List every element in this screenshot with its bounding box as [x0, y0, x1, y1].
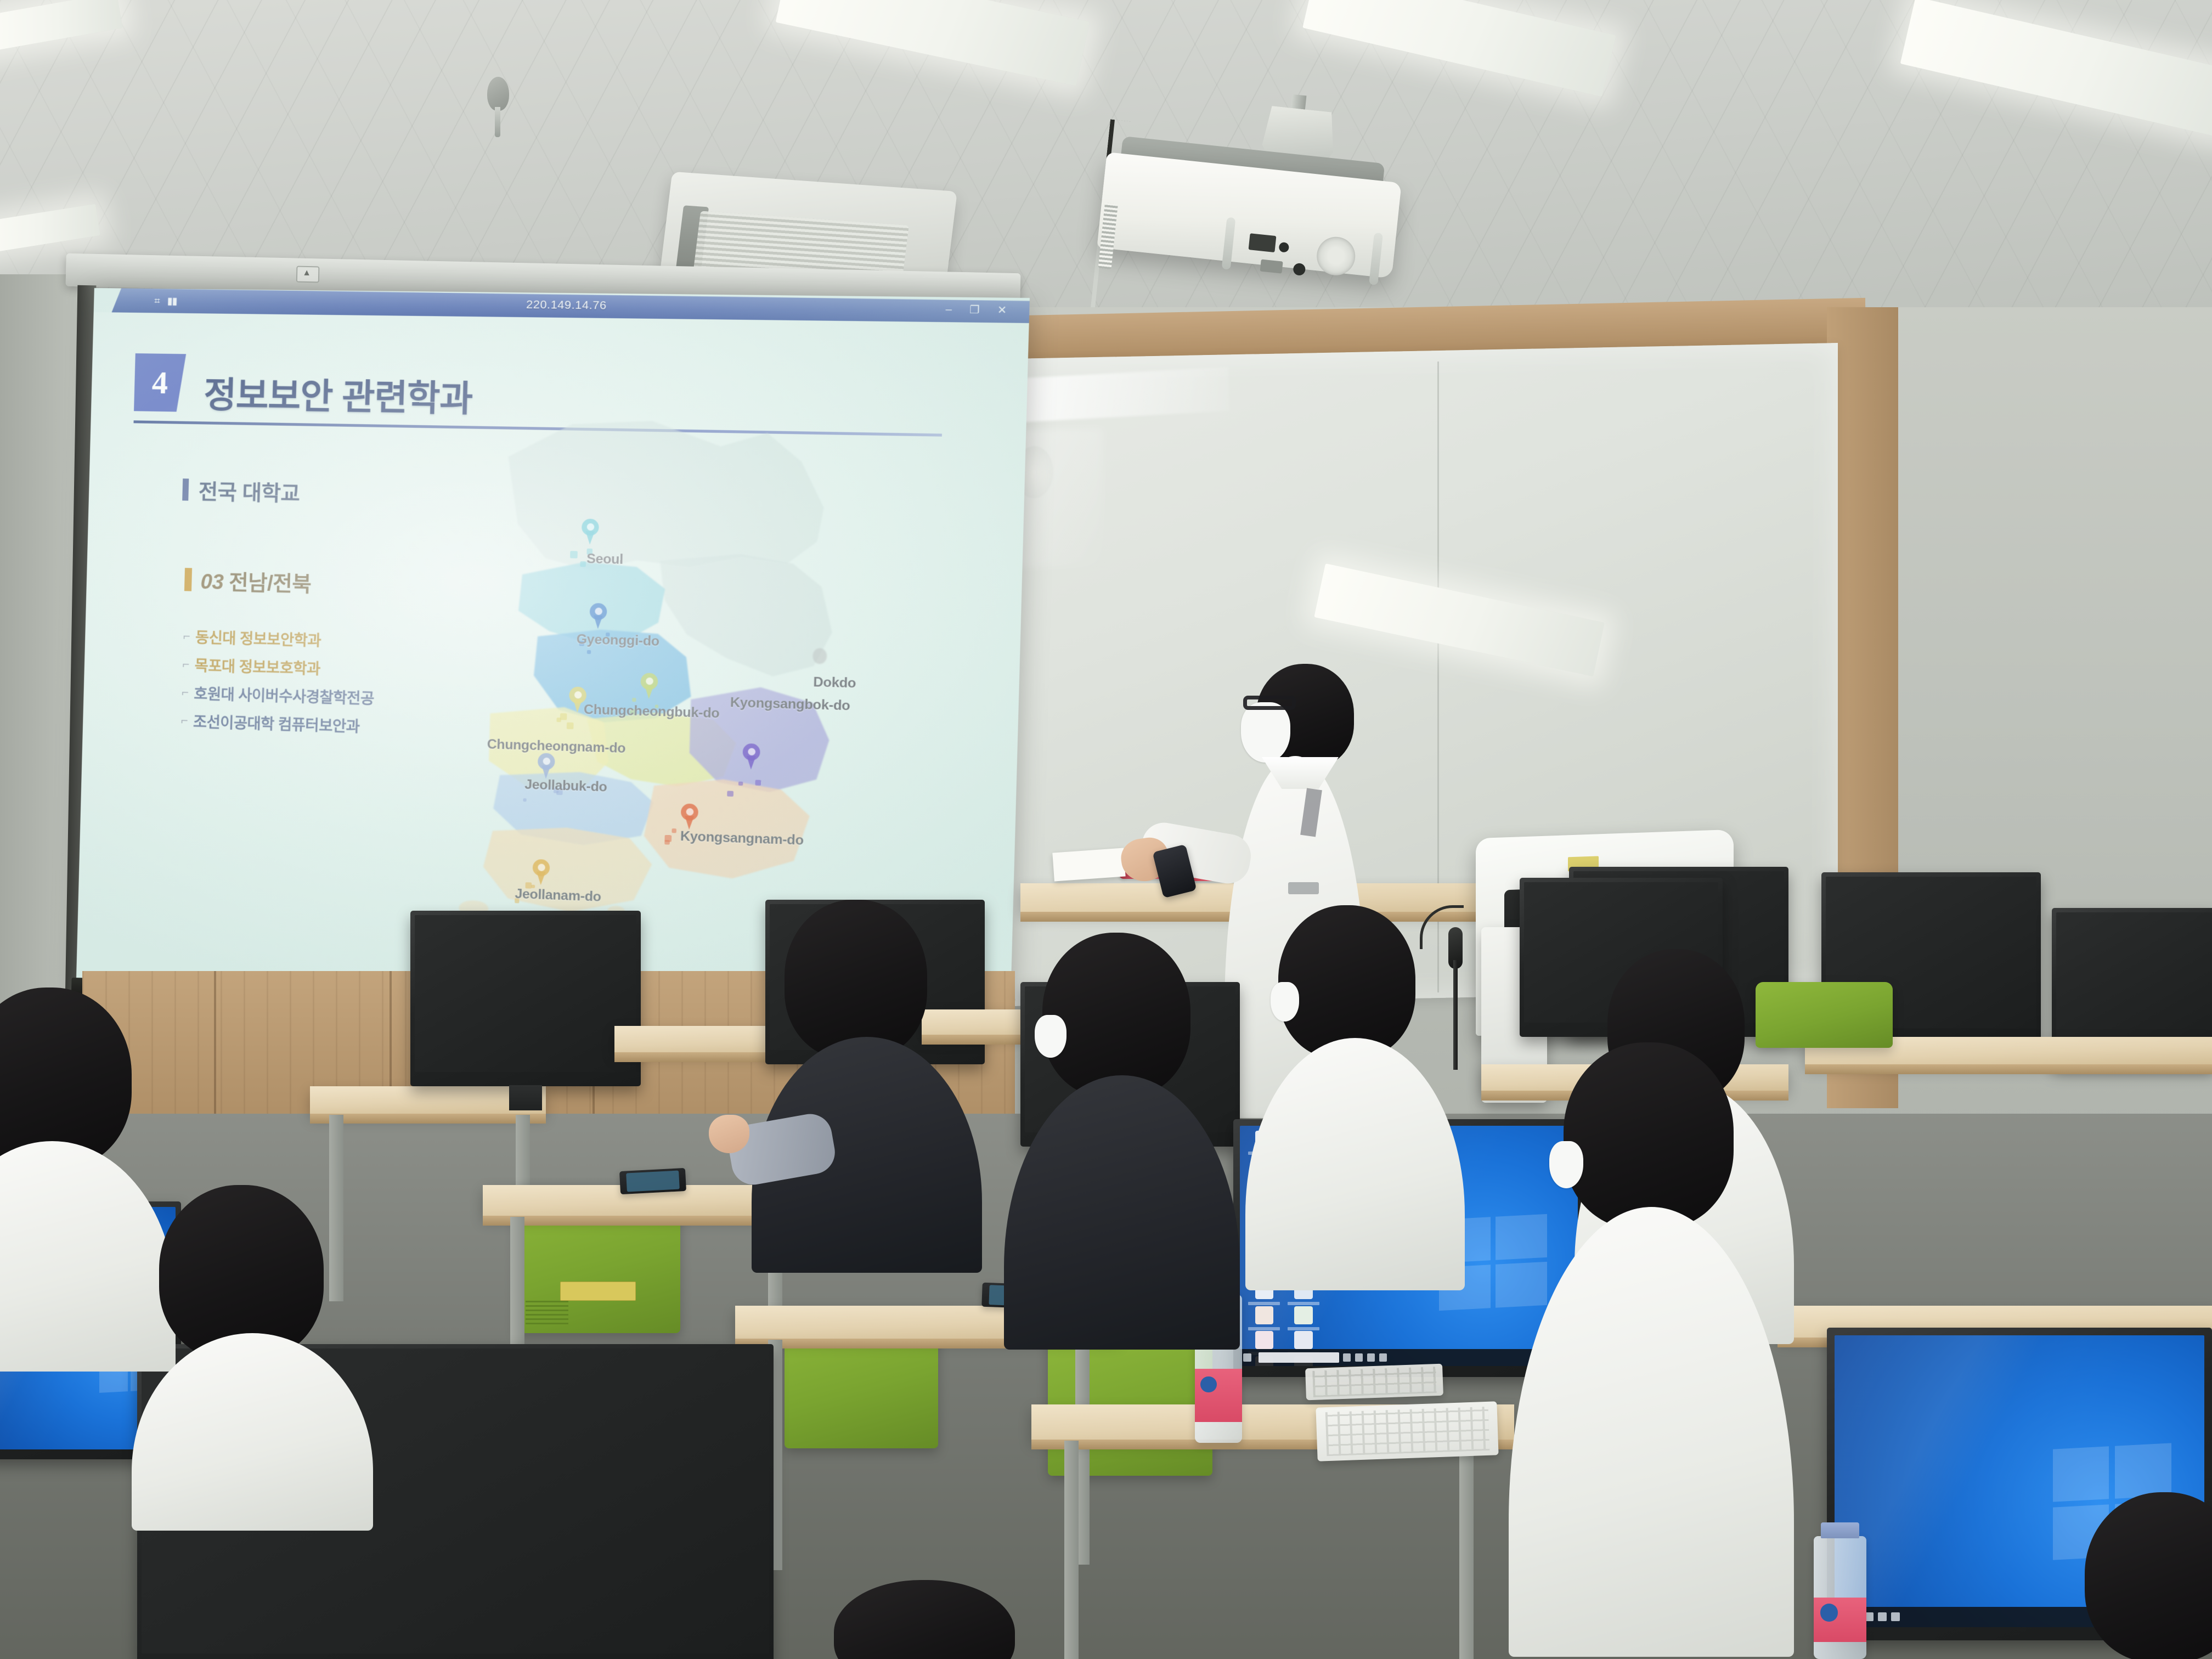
map-secondary-dot [570, 551, 578, 558]
student-head [2085, 1492, 2212, 1659]
student [0, 988, 165, 1372]
student-head [0, 988, 132, 1169]
student-monitor[interactable] [410, 911, 641, 1086]
list-bullet-dash: ⌐ [180, 713, 188, 727]
department-label: 호원대 사이버수사경찰학전공 [194, 682, 374, 709]
taskbar-search-box[interactable] [1259, 1352, 1339, 1363]
student-chair[interactable] [1756, 982, 1893, 1048]
whiteboard-light-reflection [998, 367, 1230, 424]
taskbar-app-icon[interactable] [1878, 1612, 1887, 1621]
department-list-item: ⌐조선이공대학 컴퓨터보안과 [180, 709, 415, 738]
chair-label-sticker [560, 1282, 636, 1301]
slide-header: 4 정보보안 관련학과 [134, 353, 473, 416]
projector-speaker-grille [1315, 235, 1357, 277]
projector-port-hdmi [1260, 259, 1283, 274]
signal-icon: ▮▮ [167, 295, 177, 307]
taskbar-app-icon[interactable] [1891, 1612, 1900, 1621]
slide-subtitle: 전국 대학교 [182, 474, 300, 507]
region-index: 03 [200, 571, 224, 594]
remote-desktop-title: 220.149.14.76 [177, 295, 946, 317]
chair-vent-slots [526, 1301, 568, 1324]
screen-retract-button[interactable] [296, 266, 320, 283]
face-mask [1035, 1015, 1066, 1058]
start-button-icon[interactable] [1243, 1353, 1251, 1362]
desktop-icon[interactable] [1246, 1331, 1282, 1351]
desktop-icon[interactable] [1286, 1306, 1321, 1327]
list-bullet-dash: ⌐ [183, 629, 190, 643]
list-bullet-dash: ⌐ [182, 685, 189, 699]
taskbar-app-icon[interactable] [1379, 1353, 1387, 1362]
student-head [1278, 905, 1415, 1059]
desktop-icon[interactable] [1246, 1306, 1282, 1327]
map-secondary-dot [586, 650, 591, 654]
map-secondary-dot [664, 840, 669, 845]
projector-slot [1369, 233, 1383, 285]
keyboard[interactable] [1316, 1401, 1498, 1461]
taskbar-app-icon[interactable] [1343, 1353, 1351, 1362]
close-button[interactable]: ✕ [997, 303, 1007, 317]
taskbar-app-icon[interactable] [1355, 1353, 1363, 1362]
student-torso [1245, 1038, 1465, 1290]
student-head [1042, 933, 1190, 1097]
map-region-label: Seoul [586, 551, 623, 568]
department-label: 목포대 정보보호학과 [194, 653, 320, 678]
face-mask [1271, 982, 1299, 1022]
taskbar-app-icon[interactable] [1367, 1353, 1375, 1362]
sprinkler-head-icon [483, 77, 513, 137]
subtitle-label: 전국 대학교 [198, 475, 300, 507]
student-head [1564, 1042, 1734, 1229]
map-secondary-dot [727, 791, 733, 797]
student-head [834, 1580, 1015, 1659]
keyboard[interactable] [1305, 1364, 1443, 1401]
student-torso [132, 1333, 373, 1531]
student-hand [709, 1115, 749, 1153]
desk-leg [1459, 1441, 1474, 1659]
region-heading: 03 전남/전북 [200, 565, 312, 597]
subtitle-tick [182, 478, 189, 500]
department-label: 조선이공대학 컴퓨터보안과 [193, 710, 360, 736]
region-department-block: 03 전남/전북 ⌐동신대 정보보안학과⌐목포대 정보보호학과⌐호원대 사이버수… [180, 564, 419, 738]
map-region-label: Kyongsangbok-do [730, 695, 850, 714]
map-location-pin [581, 518, 599, 545]
list-bullet-dash: ⌐ [182, 657, 189, 671]
network-icon: ⌗ [154, 295, 160, 307]
map-location-pin [589, 603, 607, 629]
windows-taskbar[interactable] [1240, 1349, 1578, 1366]
region-name: 전남/전북 [229, 571, 312, 596]
water-bottle[interactable] [1814, 1536, 1866, 1659]
projector-port-audio [1278, 242, 1289, 253]
map-secondary-dot [556, 718, 561, 722]
student [768, 900, 955, 1273]
map-secondary-dot [738, 781, 743, 786]
map-secondary-dot [523, 798, 526, 802]
region-tick [184, 568, 192, 591]
projector-slot [1222, 217, 1236, 270]
smartphone[interactable] [619, 1168, 686, 1194]
department-list: ⌐동신대 정보보안학과⌐목포대 정보보호학과⌐호원대 사이버수사경찰학전공⌐조선… [180, 625, 417, 738]
student-head [785, 900, 927, 1059]
desktop-icon[interactable] [1286, 1331, 1321, 1351]
student [2085, 1492, 2212, 1659]
classroom-photo: ⌗ ▮▮ 220.149.14.76 – ❐ ✕ 4 정보보안 관련학과 전국 … [0, 0, 2212, 1659]
student-torso [0, 1141, 176, 1372]
map-secondary-dot [567, 722, 574, 729]
paper-sheet [1052, 848, 1125, 882]
map-location-pin [532, 859, 550, 885]
desk-leg [1064, 1441, 1079, 1659]
department-list-item: ⌐목포대 정보보호학과 [182, 653, 417, 681]
eyeglasses-icon [1243, 696, 1296, 710]
map-location-pin [742, 743, 760, 770]
department-list-item: ⌐동신대 정보보안학과 [183, 625, 417, 653]
map-secondary-dot [755, 780, 761, 786]
projector-port-vga [1249, 233, 1277, 252]
map-region-label: Dokdo [813, 675, 856, 692]
map-location-pin [537, 753, 555, 779]
department-label: 동신대 정보보안학과 [195, 625, 321, 650]
map-secondary-dot [580, 561, 586, 567]
map-region-label: Gyeonggi-do [576, 632, 659, 650]
microphone-stem [1453, 960, 1458, 1070]
student [1026, 933, 1212, 1350]
maximize-button[interactable]: ❐ [969, 303, 980, 317]
face-mask [1549, 1141, 1583, 1188]
student [1531, 1042, 1761, 1657]
map-region-label: Jeollanam-do [515, 887, 601, 905]
map-region-label: Jeollabuk-do [524, 777, 607, 795]
face-mask [1241, 702, 1290, 763]
slide-number-badge: 4 [134, 353, 186, 412]
map-secondary-dot [672, 828, 676, 833]
student [834, 1580, 1020, 1659]
map-location-pin [680, 803, 698, 830]
student [1267, 905, 1443, 1289]
student-torso [1004, 1075, 1240, 1350]
shirt-logo [1288, 882, 1319, 894]
student [159, 1185, 346, 1525]
map-secondary-dot [632, 698, 636, 702]
student-torso [1509, 1207, 1794, 1657]
microphone[interactable] [1448, 927, 1463, 1070]
map-location-pin [640, 673, 658, 699]
department-list-item: ⌐호원대 사이버수사경찰학전공 [182, 681, 416, 709]
minimize-button[interactable]: – [945, 303, 952, 316]
